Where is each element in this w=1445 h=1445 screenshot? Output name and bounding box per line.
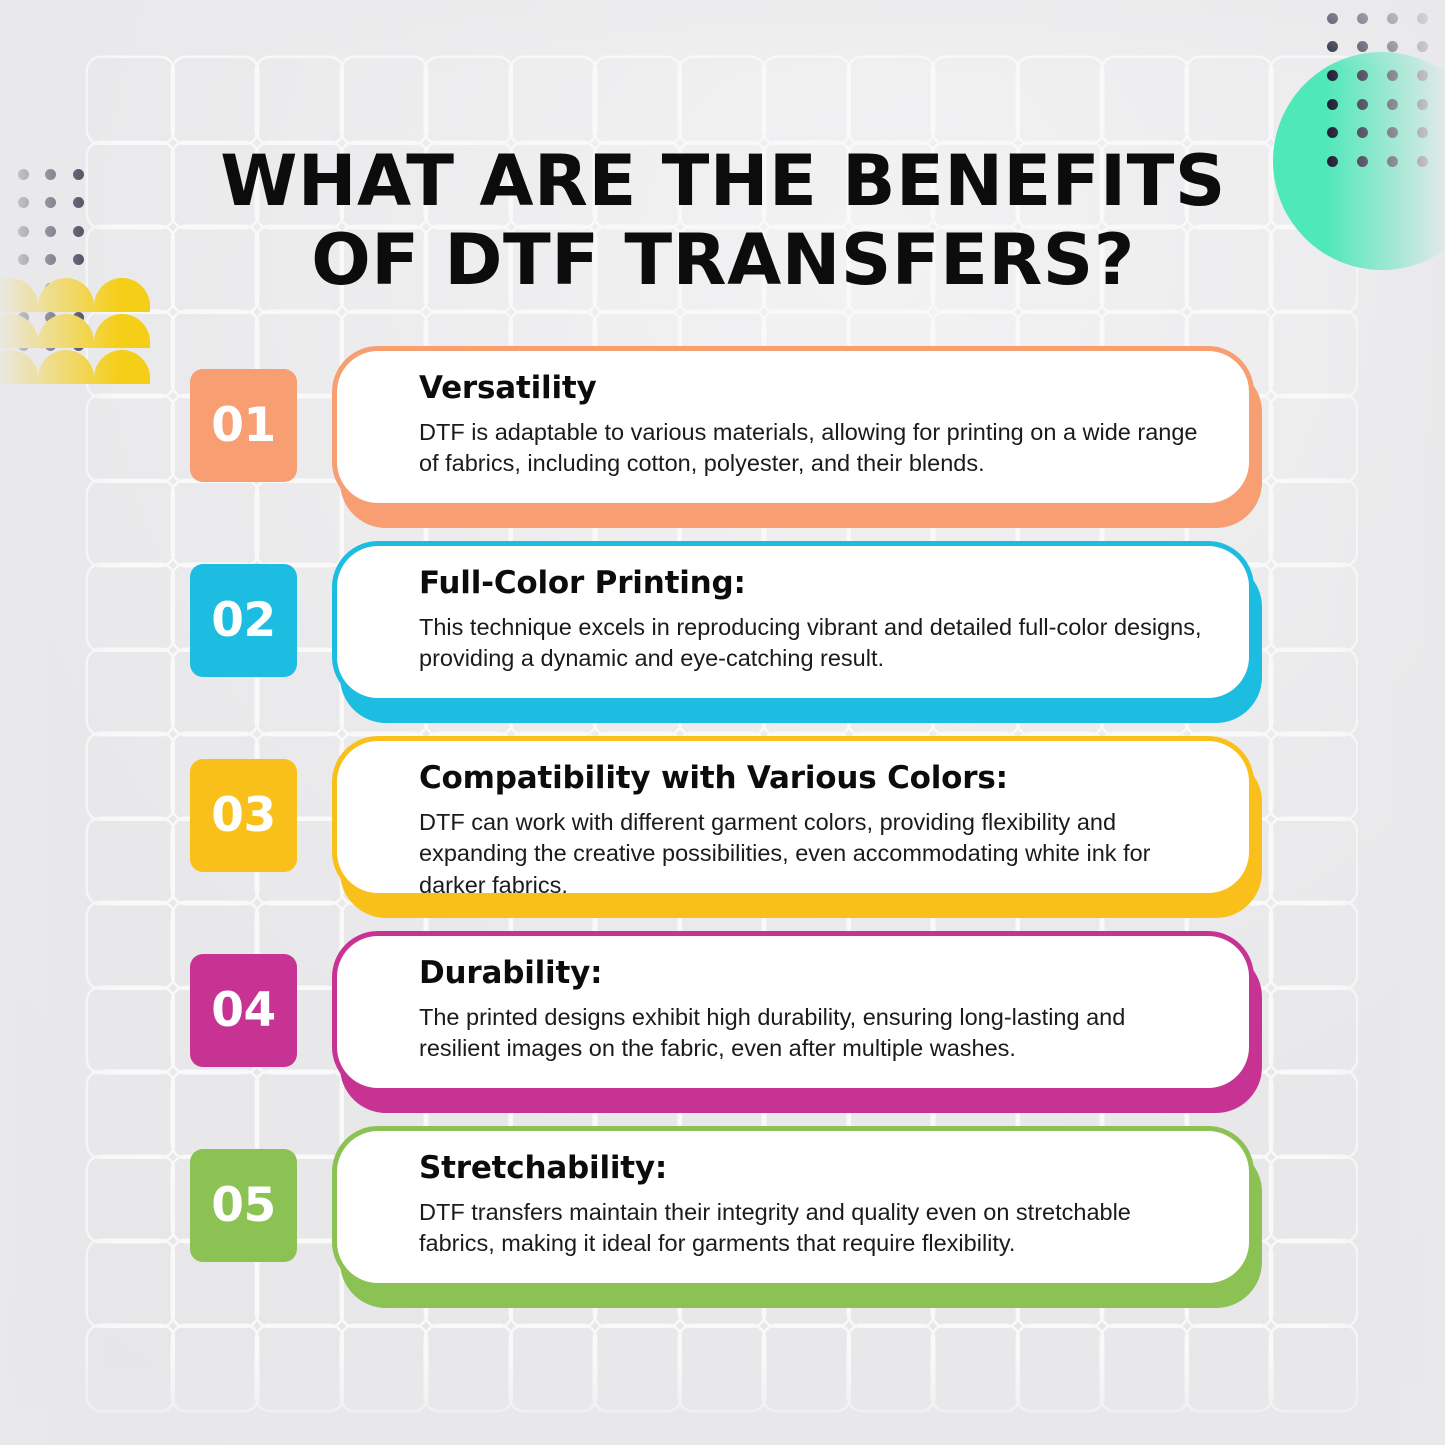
benefit-description: The printed designs exhibit high durabil…	[419, 1002, 1205, 1065]
dot-icon	[45, 226, 56, 237]
benefit-number-badge: 02	[190, 564, 297, 677]
grid-cell	[933, 1326, 1018, 1411]
benefits-list: 01VersatilityDTF is adaptable to various…	[0, 352, 1445, 1327]
dot-icon	[1417, 156, 1428, 167]
grid-cell	[88, 227, 173, 312]
benefit-item: 05Stretchability:DTF transfers maintain …	[0, 1132, 1445, 1327]
grid-cell	[342, 1326, 427, 1411]
grid-cell	[88, 58, 173, 143]
dot-icon	[1357, 13, 1368, 24]
dot-icon	[1387, 156, 1398, 167]
benefit-card: Stretchability:DTF transfers maintain th…	[332, 1126, 1262, 1308]
dot-icon	[1417, 70, 1428, 81]
semicircle-shape	[38, 278, 94, 312]
benefit-description: DTF can work with different garment colo…	[419, 807, 1205, 901]
grid-cell	[1102, 1326, 1187, 1411]
grid-cell	[933, 58, 1018, 143]
benefit-heading: Durability:	[419, 956, 1205, 990]
dot-icon	[1327, 156, 1338, 167]
grid-cell	[764, 58, 849, 143]
grid-cell	[680, 58, 765, 143]
benefit-number-badge: 03	[190, 759, 297, 872]
grid-cell	[680, 1326, 765, 1411]
grid-cell	[1102, 58, 1187, 143]
dot-icon	[73, 226, 84, 237]
grid-cell	[1271, 227, 1356, 312]
infographic-canvas: WHAT ARE THE BENEFITS OF DTF TRANSFERS? …	[0, 0, 1445, 1445]
benefit-card: Compatibility with Various Colors:DTF ca…	[332, 736, 1262, 918]
semicircle-shape	[0, 314, 38, 348]
grid-cell	[88, 1326, 173, 1411]
grid-cell	[426, 1326, 511, 1411]
dot-icon	[1327, 13, 1338, 24]
page-title: WHAT ARE THE BENEFITS OF DTF TRANSFERS?	[178, 142, 1268, 300]
benefit-card: VersatilityDTF is adaptable to various m…	[332, 346, 1262, 528]
dot-icon	[18, 197, 29, 208]
grid-cell	[595, 58, 680, 143]
benefit-item: 01VersatilityDTF is adaptable to various…	[0, 352, 1445, 547]
grid-cell	[173, 1326, 258, 1411]
semicircle-shape	[0, 278, 38, 312]
benefit-heading: Full-Color Printing:	[419, 566, 1205, 600]
dot-icon	[18, 254, 29, 265]
semicircle-shape	[38, 314, 94, 348]
dot-grid-decoration-top-right	[1317, 4, 1437, 176]
dot-icon	[18, 312, 29, 323]
semicircle-shape	[94, 278, 150, 312]
dot-icon	[73, 197, 84, 208]
grid-cell	[1187, 58, 1272, 143]
dot-icon	[1417, 41, 1428, 52]
dot-icon	[45, 312, 56, 323]
dot-icon	[1357, 41, 1368, 52]
benefit-heading: Stretchability:	[419, 1151, 1205, 1185]
grid-cell	[1271, 58, 1356, 143]
card-panel: Full-Color Printing:This technique excel…	[332, 541, 1254, 703]
dot-icon	[73, 340, 84, 351]
dot-icon	[45, 283, 56, 294]
dot-icon	[73, 283, 84, 294]
benefit-number-badge: 01	[190, 369, 297, 482]
dot-icon	[45, 254, 56, 265]
benefit-item: 02Full-Color Printing:This technique exc…	[0, 547, 1445, 742]
dot-icon	[1357, 127, 1368, 138]
benefit-card: Durability:The printed designs exhibit h…	[332, 931, 1262, 1113]
benefit-number-badge: 05	[190, 1149, 297, 1262]
grid-cell	[1271, 143, 1356, 228]
grid-cell	[1018, 58, 1103, 143]
dot-icon	[18, 169, 29, 180]
card-panel: Durability:The printed designs exhibit h…	[332, 931, 1254, 1093]
dot-icon	[1387, 41, 1398, 52]
dot-icon	[73, 312, 84, 323]
dot-icon	[18, 283, 29, 294]
dot-icon	[1417, 127, 1428, 138]
grid-cell	[342, 58, 427, 143]
card-panel: VersatilityDTF is adaptable to various m…	[332, 346, 1254, 508]
grid-cell	[1018, 1326, 1103, 1411]
dot-icon	[1327, 70, 1338, 81]
dot-icon	[1327, 41, 1338, 52]
teal-circle-decoration	[1273, 52, 1445, 270]
dot-icon	[45, 169, 56, 180]
grid-cell	[173, 58, 258, 143]
benefit-description: DTF is adaptable to various materials, a…	[419, 417, 1205, 480]
grid-cell	[764, 1326, 849, 1411]
grid-cell	[257, 58, 342, 143]
grid-cell	[1187, 1326, 1272, 1411]
grid-cell	[595, 1326, 680, 1411]
grid-cell	[257, 1326, 342, 1411]
dot-icon	[1357, 156, 1368, 167]
dot-icon	[1417, 13, 1428, 24]
benefit-description: DTF transfers maintain their integrity a…	[419, 1197, 1205, 1260]
grid-cell	[849, 58, 934, 143]
dot-icon	[1327, 99, 1338, 110]
dot-icon	[1387, 99, 1398, 110]
grid-cell	[1271, 1326, 1356, 1411]
dot-icon	[73, 169, 84, 180]
dot-icon	[45, 340, 56, 351]
grid-cell	[849, 1326, 934, 1411]
dot-icon	[1357, 99, 1368, 110]
dot-icon	[18, 226, 29, 237]
benefit-description: This technique excels in reproducing vib…	[419, 612, 1205, 675]
benefit-item: 03Compatibility with Various Colors:DTF …	[0, 742, 1445, 937]
grid-cell	[426, 58, 511, 143]
grid-cell	[88, 143, 173, 228]
dot-icon	[1387, 127, 1398, 138]
grid-cell	[511, 58, 596, 143]
dot-icon	[1417, 99, 1428, 110]
grid-cell	[511, 1326, 596, 1411]
dot-icon	[18, 340, 29, 351]
dot-icon	[45, 197, 56, 208]
semicircle-shape	[94, 314, 150, 348]
dot-icon	[1327, 127, 1338, 138]
card-panel: Stretchability:DTF transfers maintain th…	[332, 1126, 1254, 1288]
card-panel: Compatibility with Various Colors:DTF ca…	[332, 736, 1254, 898]
benefit-item: 04Durability:The printed designs exhibit…	[0, 937, 1445, 1132]
dot-icon	[1387, 70, 1398, 81]
benefit-number-badge: 04	[190, 954, 297, 1067]
benefit-heading: Compatibility with Various Colors:	[419, 761, 1205, 795]
dot-icon	[1357, 70, 1368, 81]
dot-icon	[73, 254, 84, 265]
dot-icon	[1387, 13, 1398, 24]
benefit-heading: Versatility	[419, 371, 1205, 405]
dot-grid-decoration-left	[10, 160, 92, 360]
benefit-card: Full-Color Printing:This technique excel…	[332, 541, 1262, 723]
